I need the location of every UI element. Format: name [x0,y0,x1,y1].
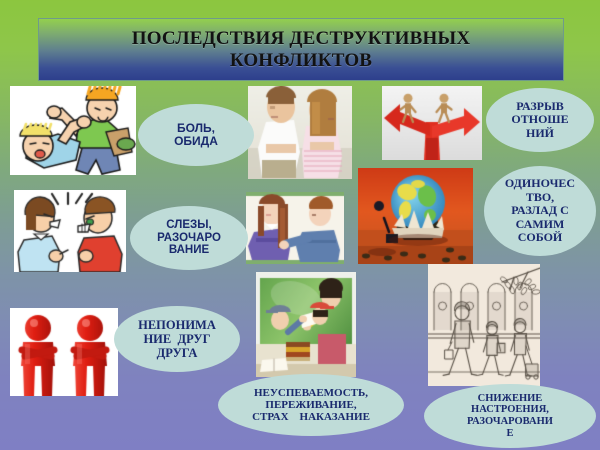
callout-snizhenie-nastroeniya-text: СНИЖЕНИЕНАСТРОЕНИЯ,РАЗОЧАРОВАНИЕ [461,393,559,440]
picture-pencil-sketch-street [428,264,540,386]
callout-slezy-razocharovanie: СЛЕЗЫ,РАЗОЧАРОВАНИЕ [130,206,248,270]
callout-razryv-otnoshenij-text: РАЗРЫВОТНОШЕНИЙ [505,100,574,140]
callout-neuspevaemost-text: НЕУСПЕВАЕМОСТЬ,ПЕРЕЖИВАНИЕ,СТРАХ НАКАЗАН… [246,387,376,424]
diverging-arrows-image [382,86,482,160]
picture-boys-fighting [10,86,136,175]
picture-classroom-scene [256,272,356,377]
callout-neponimanie: НЕПОНИМАНИЕ ДРУГДРУГА [114,306,240,372]
cracked-globe-egg-image [358,168,473,264]
callout-bol-obida-text: БОЛЬ,ОБИДА [168,122,224,149]
picture-red-figures [10,308,118,396]
callout-neuspevaemost: НЕУСПЕВАЕМОСТЬ,ПЕРЕЖИВАНИЕ,СТРАХ НАКАЗАН… [218,374,404,436]
title-line-2: КОНФЛИКТОВ [230,50,372,71]
callout-razryv-otnoshenij: РАЗРЫВОТНОШЕНИЙ [486,88,594,152]
children-quarrel-image [246,192,344,264]
title-line-1: ПОСЛЕДСТВИЯ ДЕСТРУКТИВНЫХ [132,28,471,49]
callout-slezy-razocharovanie-text: СЛЕЗЫ,РАЗОЧАРОВАНИЕ [151,219,227,258]
page-title: ПОСЛЕДСТВИЯ ДЕСТРУКТИВНЫХ КОНФЛИКТОВ [126,28,477,71]
red-figures-image [10,308,118,396]
picture-kids-back-to-back [248,86,352,179]
picture-adults-arguing [14,190,126,272]
boys-fighting-image [10,86,136,175]
kids-back-to-back-image [248,86,352,179]
pencil-sketch-street-image [428,264,540,386]
picture-children-quarrel [246,192,344,264]
callout-snizhenie-nastroeniya: СНИЖЕНИЕНАСТРОЕНИЯ,РАЗОЧАРОВАНИЕ [424,384,596,448]
callout-odinochestvo-text: ОДИНОЧЕСТВО,РАЗЛАД ССАМИМСОБОЙ [499,177,581,244]
slide-title-banner: ПОСЛЕДСТВИЯ ДЕСТРУКТИВНЫХ КОНФЛИКТОВ [38,18,564,81]
slide-canvas: ПОСЛЕДСТВИЯ ДЕСТРУКТИВНЫХ КОНФЛИКТОВ БОЛ… [0,0,600,450]
callout-neponimanie-text: НЕПОНИМАНИЕ ДРУГДРУГА [132,318,222,360]
classroom-scene-image [256,272,356,377]
callout-bol-obida: БОЛЬ,ОБИДА [138,104,254,166]
callout-odinochestvo: ОДИНОЧЕСТВО,РАЗЛАД ССАМИМСОБОЙ [484,166,596,256]
adults-arguing-image [14,190,126,272]
picture-cracked-globe-egg [358,168,473,264]
picture-diverging-arrows [382,86,482,160]
